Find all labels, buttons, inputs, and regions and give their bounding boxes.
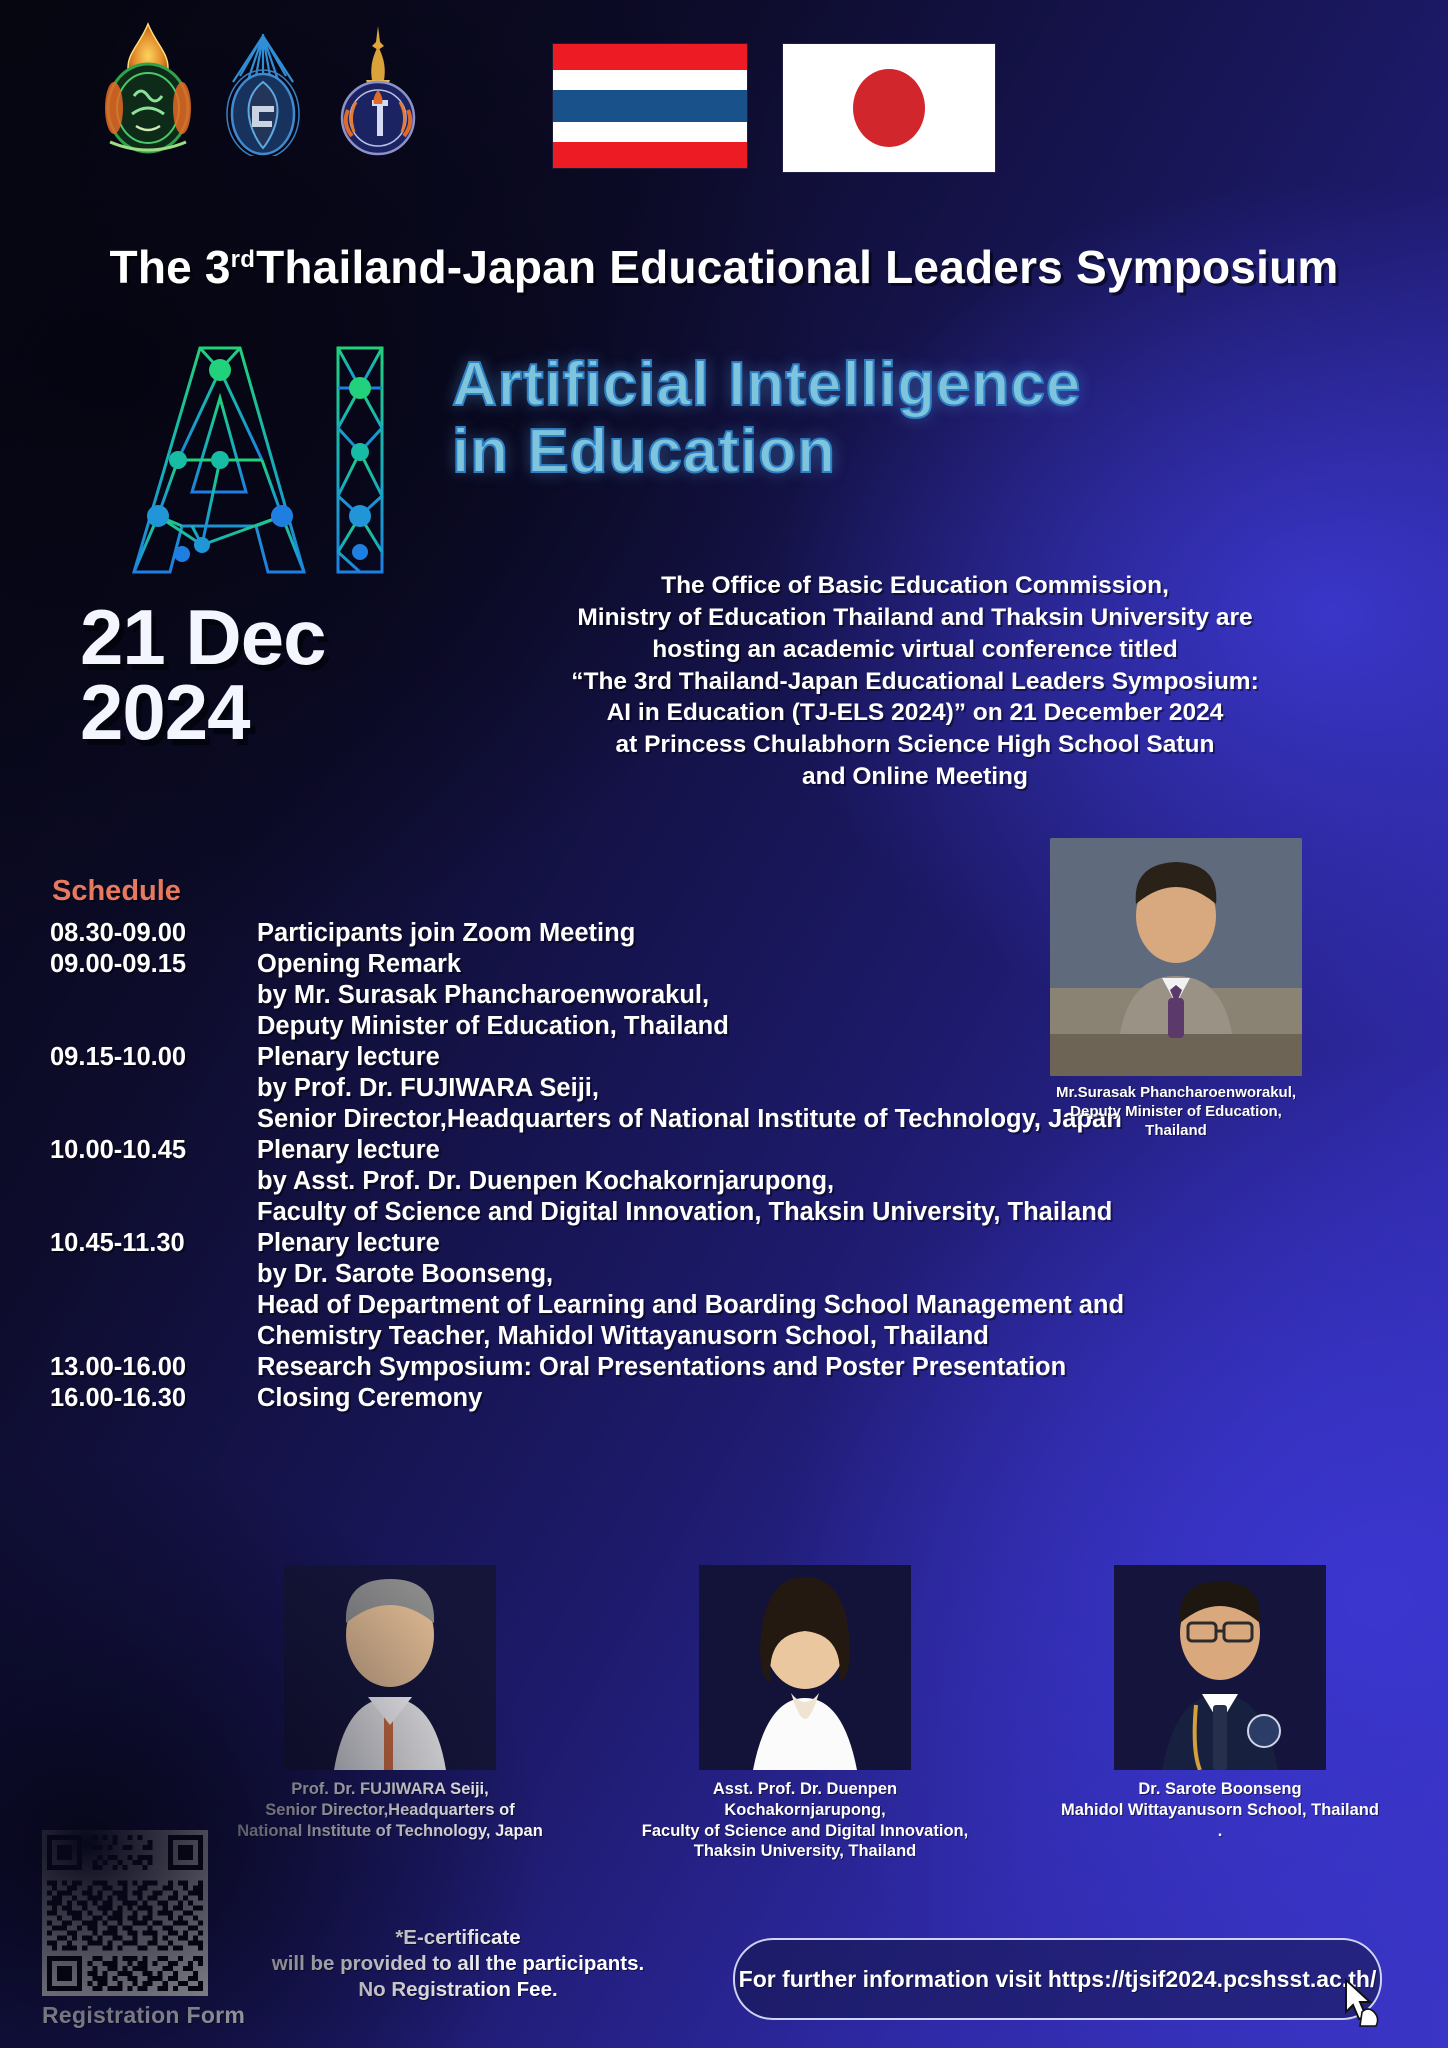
event-date: 21 Dec 2024 xyxy=(80,600,326,750)
caption-line: Mahidol Wittayanusorn School, Thailand xyxy=(1045,1800,1395,1821)
thaksin-university-emblem-icon xyxy=(222,30,304,156)
page-title: The 3rdThailand-Japan Educational Leader… xyxy=(0,240,1448,294)
caption-line: Senior Director,Headquarters of xyxy=(215,1800,565,1821)
featured-speaker: Mr.Surasak Phancharoenworakul, Deputy Mi… xyxy=(1050,838,1302,1140)
more-information-button[interactable]: For further information visit https://tj… xyxy=(733,1938,1382,2020)
description-line: hosting an academic virtual conference t… xyxy=(430,634,1400,666)
title-prefix: The 3 xyxy=(110,241,231,293)
schedule-time: 09.15-10.00 xyxy=(50,1042,257,1073)
poster-root: The 3rdThailand-Japan Educational Leader… xyxy=(0,0,1448,2048)
schedule-time: 09.00-09.15 xyxy=(50,949,257,980)
schedule-subline: Chemistry Teacher, Mahidol Wittayanusorn… xyxy=(50,1321,1390,1352)
thailand-flag-icon xyxy=(553,44,747,168)
event-description: The Office of Basic Education Commission… xyxy=(430,570,1400,793)
schedule-time: 10.45-11.30 xyxy=(50,1228,257,1259)
schedule-description: Research Symposium: Oral Presentations a… xyxy=(257,1352,1390,1383)
duenpen-kochakornjarupong-photo xyxy=(699,1565,911,1770)
registration-form-label: Registration Form xyxy=(42,2002,245,2029)
schedule-time: 13.00-16.00 xyxy=(50,1352,257,1383)
schedule-subline: Head of Department of Learning and Board… xyxy=(50,1290,1390,1321)
caption-line: Mr.Surasak Phancharoenworakul, xyxy=(1050,1084,1302,1103)
caption-line: Dr. Sarote Boonseng xyxy=(1045,1779,1395,1800)
schedule-subline: Faculty of Science and Digital Innovatio… xyxy=(50,1197,1390,1228)
ecertificate-line: will be provided to all the participants… xyxy=(228,1951,688,1977)
sarote-boonseng-photo xyxy=(1114,1565,1326,1770)
ecertificate-line: *E-certificate xyxy=(228,1925,688,1951)
fujiwara-seiji-photo xyxy=(284,1565,496,1770)
institution-logos xyxy=(96,22,430,156)
ecertificate-line: No Registration Fee. xyxy=(228,1977,688,2003)
cursor-pointer-icon xyxy=(1340,1978,1384,2035)
schedule-row: 16.00-16.30 Closing Ceremony xyxy=(50,1383,1390,1414)
schedule-heading: Schedule xyxy=(52,875,181,908)
caption-line: Prof. Dr. FUJIWARA Seiji, xyxy=(215,1779,565,1800)
schedule-time: 16.00-16.30 xyxy=(50,1383,257,1414)
description-line: Ministry of Education Thailand and Thaks… xyxy=(430,602,1400,634)
schedule-time: 08.30-09.00 xyxy=(50,918,257,949)
caption-line: . xyxy=(1045,1821,1395,1842)
schedule-description: Plenary lecture xyxy=(257,1228,1390,1259)
caption-line: Asst. Prof. Dr. Duenpen Kochakornjarupon… xyxy=(630,1779,980,1821)
event-date-line-2: 2024 xyxy=(80,675,326,750)
theme-line-2: in Education xyxy=(452,419,1402,486)
speaker-card: Prof. Dr. FUJIWARA Seiji, Senior Directo… xyxy=(215,1565,565,1862)
featured-speaker-caption: Mr.Surasak Phancharoenworakul, Deputy Mi… xyxy=(1050,1084,1302,1140)
caption-line: Thaksin University, Thailand xyxy=(630,1841,980,1862)
description-line: “The 3rd Thailand-Japan Educational Lead… xyxy=(430,666,1400,698)
title-ordinal: rd xyxy=(231,246,255,273)
description-line: at Princess Chulabhorn Science High Scho… xyxy=(430,729,1400,761)
speaker-card: Asst. Prof. Dr. Duenpen Kochakornjarupon… xyxy=(630,1565,980,1862)
schedule-subline: by Asst. Prof. Dr. Duenpen Kochakornjaru… xyxy=(50,1166,1390,1197)
caption-line: Faculty of Science and Digital Innovatio… xyxy=(630,1821,980,1842)
speaker-caption: Asst. Prof. Dr. Duenpen Kochakornjarupon… xyxy=(630,1779,980,1862)
speaker-gallery: Prof. Dr. FUJIWARA Seiji, Senior Directo… xyxy=(215,1565,1395,1862)
schedule-time: 10.00-10.45 xyxy=(50,1135,257,1166)
schedule-description: Closing Ceremony xyxy=(257,1383,1390,1414)
pcshs-satun-emblem-icon xyxy=(326,24,430,156)
description-line: and Online Meeting xyxy=(430,761,1400,793)
description-line: AI in Education (TJ-ELS 2024)” on 21 Dec… xyxy=(430,697,1400,729)
surasak-phancharoenworakul-photo xyxy=(1050,838,1302,1076)
event-date-line-1: 21 Dec xyxy=(80,600,326,675)
caption-line: Deputy Minister of Education, Thailand xyxy=(1050,1103,1302,1141)
japan-flag-icon xyxy=(783,44,995,172)
ai-network-logo-icon xyxy=(82,340,422,590)
schedule-row: 13.00-16.00 Research Symposium: Oral Pre… xyxy=(50,1352,1390,1383)
description-line: The Office of Basic Education Commission… xyxy=(430,570,1400,602)
ecertificate-note: *E-certificate will be provided to all t… xyxy=(228,1925,688,2003)
speaker-caption: Dr. Sarote Boonseng Mahidol Wittayanusor… xyxy=(1045,1779,1395,1841)
more-information-text: For further information visit https://tj… xyxy=(739,1966,1377,1993)
schedule-row: 10.45-11.30 Plenary lecture xyxy=(50,1228,1390,1259)
obec-emblem-icon xyxy=(96,22,200,156)
title-rest: Thailand-Japan Educational Leaders Sympo… xyxy=(256,241,1338,293)
speaker-caption: Prof. Dr. FUJIWARA Seiji, Senior Directo… xyxy=(215,1779,565,1841)
speaker-card: Dr. Sarote Boonseng Mahidol Wittayanusor… xyxy=(1045,1565,1395,1862)
conference-theme-heading: Artificial Intelligence in Education xyxy=(452,352,1402,486)
caption-line: National Institute of Technology, Japan xyxy=(215,1821,565,1842)
theme-line-1: Artificial Intelligence xyxy=(452,350,1081,419)
country-flags xyxy=(553,44,995,172)
schedule-subline: by Dr. Sarote Boonseng, xyxy=(50,1259,1390,1290)
registration-qr-code[interactable] xyxy=(42,1830,208,1996)
registration-block[interactable]: Registration Form xyxy=(42,1830,245,2029)
